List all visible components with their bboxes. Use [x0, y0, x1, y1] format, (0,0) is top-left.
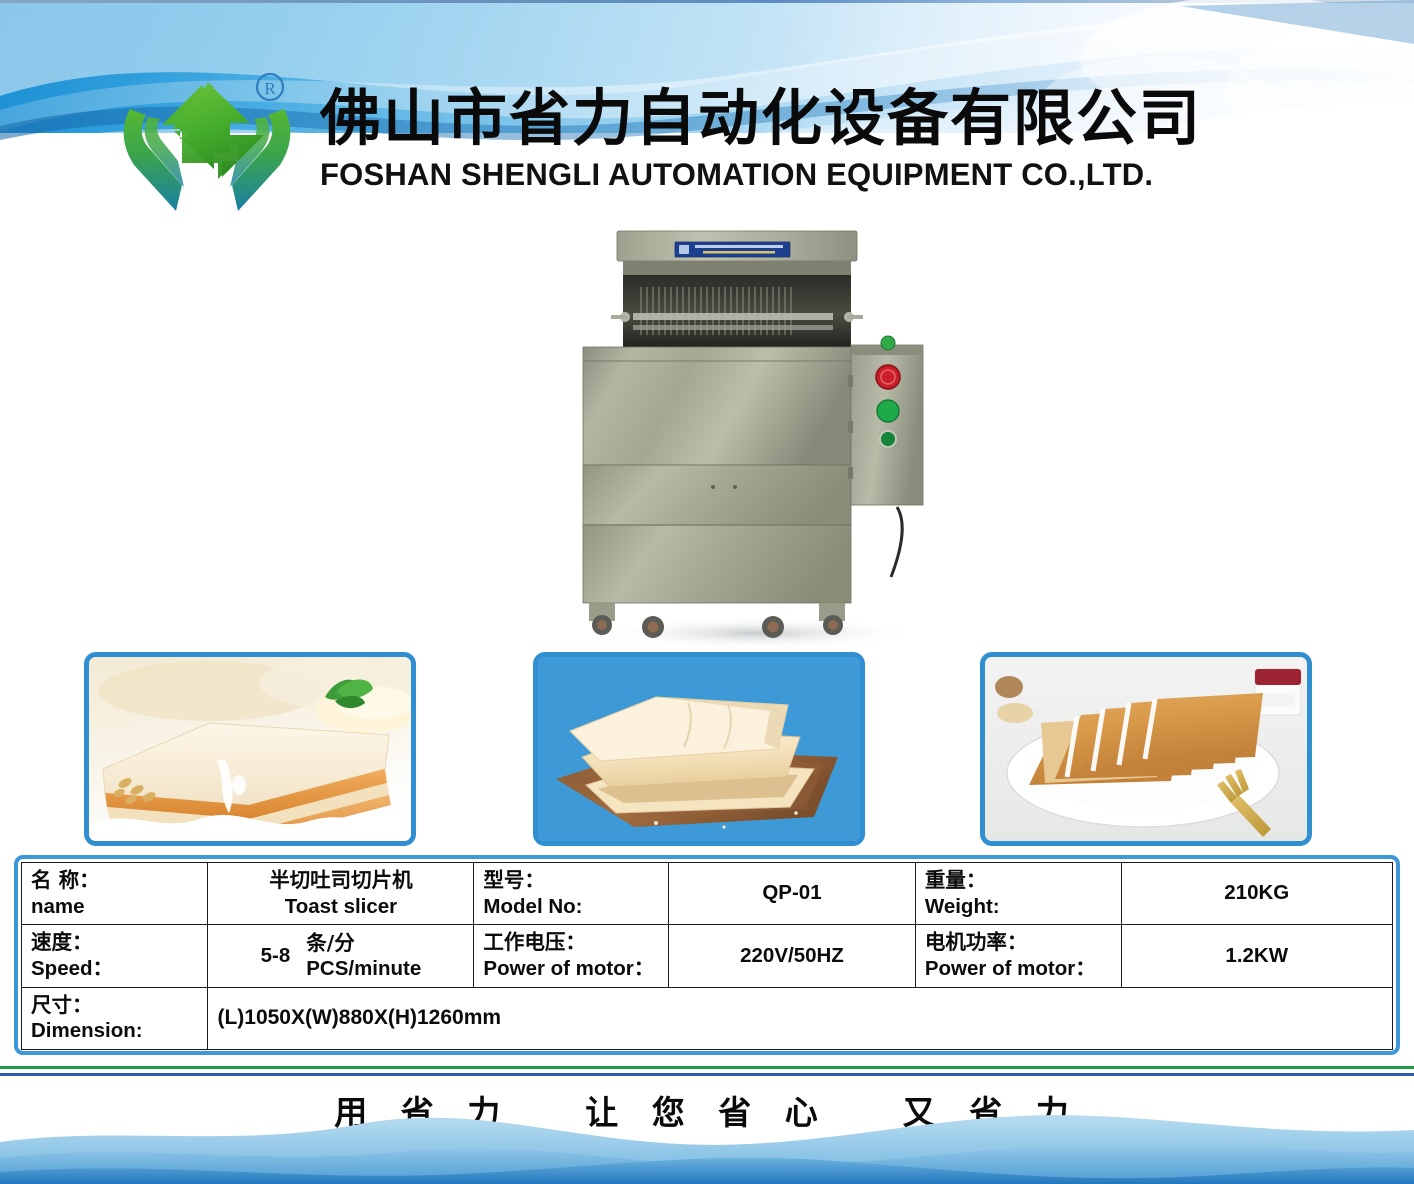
model-label-cn: 型号：: [483, 867, 659, 894]
weight-label-en: Weight:: [925, 894, 1112, 921]
name-label-cn: 名 称：: [31, 867, 198, 894]
photo-toast-stack-with-mint: [84, 652, 416, 846]
dimension-value: (L)1050X(W)880X(H)1260mm: [208, 1006, 1392, 1030]
registered-mark: R: [264, 79, 276, 98]
table-row: 速度： Speed： 5-8 条/分 PCS/minute: [22, 925, 1393, 987]
dimension-label-en: Dimension:: [31, 1018, 198, 1045]
weight-label-cn: 重量：: [925, 867, 1112, 894]
footer-waves: [0, 1108, 1414, 1184]
photo-sliced-bread-on-plate: [980, 652, 1312, 846]
model-label-en: Model No:: [483, 894, 659, 921]
speed-unit-cn: 条/分: [306, 930, 421, 956]
cell-dimension-label: 尺寸： Dimension:: [22, 987, 208, 1049]
toast-stack-illustration: [89, 657, 411, 841]
product-name-en: Toast slicer: [217, 894, 464, 921]
machine-nameplate: [675, 242, 790, 257]
indicator-lamp-top: [881, 336, 895, 350]
speed-number: 5-8: [261, 944, 291, 968]
speed-label-en: Speed：: [31, 956, 198, 983]
table-row: 尺寸： Dimension: (L)1050X(W)880X(H)1260mm: [22, 987, 1393, 1049]
company-logo: R: [118, 65, 308, 215]
divider-green: [0, 1066, 1414, 1069]
cell-name-value: 半切吐司切片机 Toast slicer: [208, 863, 474, 925]
company-header: R 佛山市省力自动化设备有限公司 FOSHAN SHENGLI AUTOMATI…: [0, 60, 1414, 220]
cell-model-value: QP-01: [669, 863, 916, 925]
speed-unit-en: PCS/minute: [306, 956, 421, 982]
power-label-cn: 电机功率：: [925, 929, 1112, 956]
spec-table-grid: 名 称： name 半切吐司切片机 Toast slicer 型号： Model…: [21, 862, 1393, 1050]
model-value: QP-01: [669, 876, 915, 911]
cell-weight-value: 210KG: [1121, 863, 1393, 925]
dimension-label-cn: 尺寸：: [31, 992, 198, 1019]
cell-voltage-value: 220V/50HZ: [669, 925, 916, 987]
cell-model-label: 型号： Model No:: [474, 863, 669, 925]
speed-label-cn: 速度：: [31, 929, 198, 956]
footer-wave-graphic: [0, 1108, 1414, 1184]
voltage-label-cn: 工作电压：: [483, 929, 659, 956]
voltage-value: 220V/50HZ: [669, 939, 915, 974]
cell-speed-value: 5-8 条/分 PCS/minute: [208, 925, 474, 987]
cell-speed-label: 速度： Speed：: [22, 925, 208, 987]
hands-holding-s-logo-icon: R: [118, 65, 308, 215]
weight-value: 210KG: [1122, 876, 1393, 911]
cell-voltage-label: 工作电压： Power of motor：: [474, 925, 669, 987]
machine-photo: [545, 225, 965, 650]
specification-table: 名 称： name 半切吐司切片机 Toast slicer 型号： Model…: [14, 855, 1400, 1055]
emergency-stop-button: [876, 365, 900, 389]
sliced-bread-plate-illustration: [985, 657, 1307, 841]
photo-bread-slices-on-board: [533, 652, 865, 846]
cell-power-value: 1.2KW: [1121, 925, 1393, 987]
voltage-label-en: Power of motor：: [483, 956, 659, 983]
cell-name-label: 名 称： name: [22, 863, 208, 925]
name-label-en: name: [31, 894, 198, 921]
toast-slicer-machine-illustration: [545, 225, 965, 650]
product-name-cn: 半切吐司切片机: [217, 867, 464, 894]
start-button: [877, 400, 899, 422]
cell-weight-label: 重量： Weight:: [915, 863, 1121, 925]
company-name-block: 佛山市省力自动化设备有限公司 FOSHAN SHENGLI AUTOMATION…: [320, 88, 1202, 192]
cell-dimension-value: (L)1050X(W)880X(H)1260mm: [208, 987, 1393, 1049]
cell-power-label: 电机功率： Power of motor：: [915, 925, 1121, 987]
table-row: 名 称： name 半切吐司切片机 Toast slicer 型号： Model…: [22, 863, 1393, 925]
divider-blue: [0, 1073, 1414, 1076]
product-photo-row: [0, 650, 1414, 848]
company-name-cn: 佛山市省力自动化设备有限公司: [320, 88, 1202, 150]
company-name-en: FOSHAN SHENGLI AUTOMATION EQUIPMENT CO.,…: [320, 157, 1189, 192]
bread-on-board-illustration: [538, 657, 860, 841]
indicator-lamp: [880, 431, 896, 447]
power-label-en: Power of motor：: [925, 956, 1112, 983]
power-value: 1.2KW: [1122, 939, 1393, 974]
